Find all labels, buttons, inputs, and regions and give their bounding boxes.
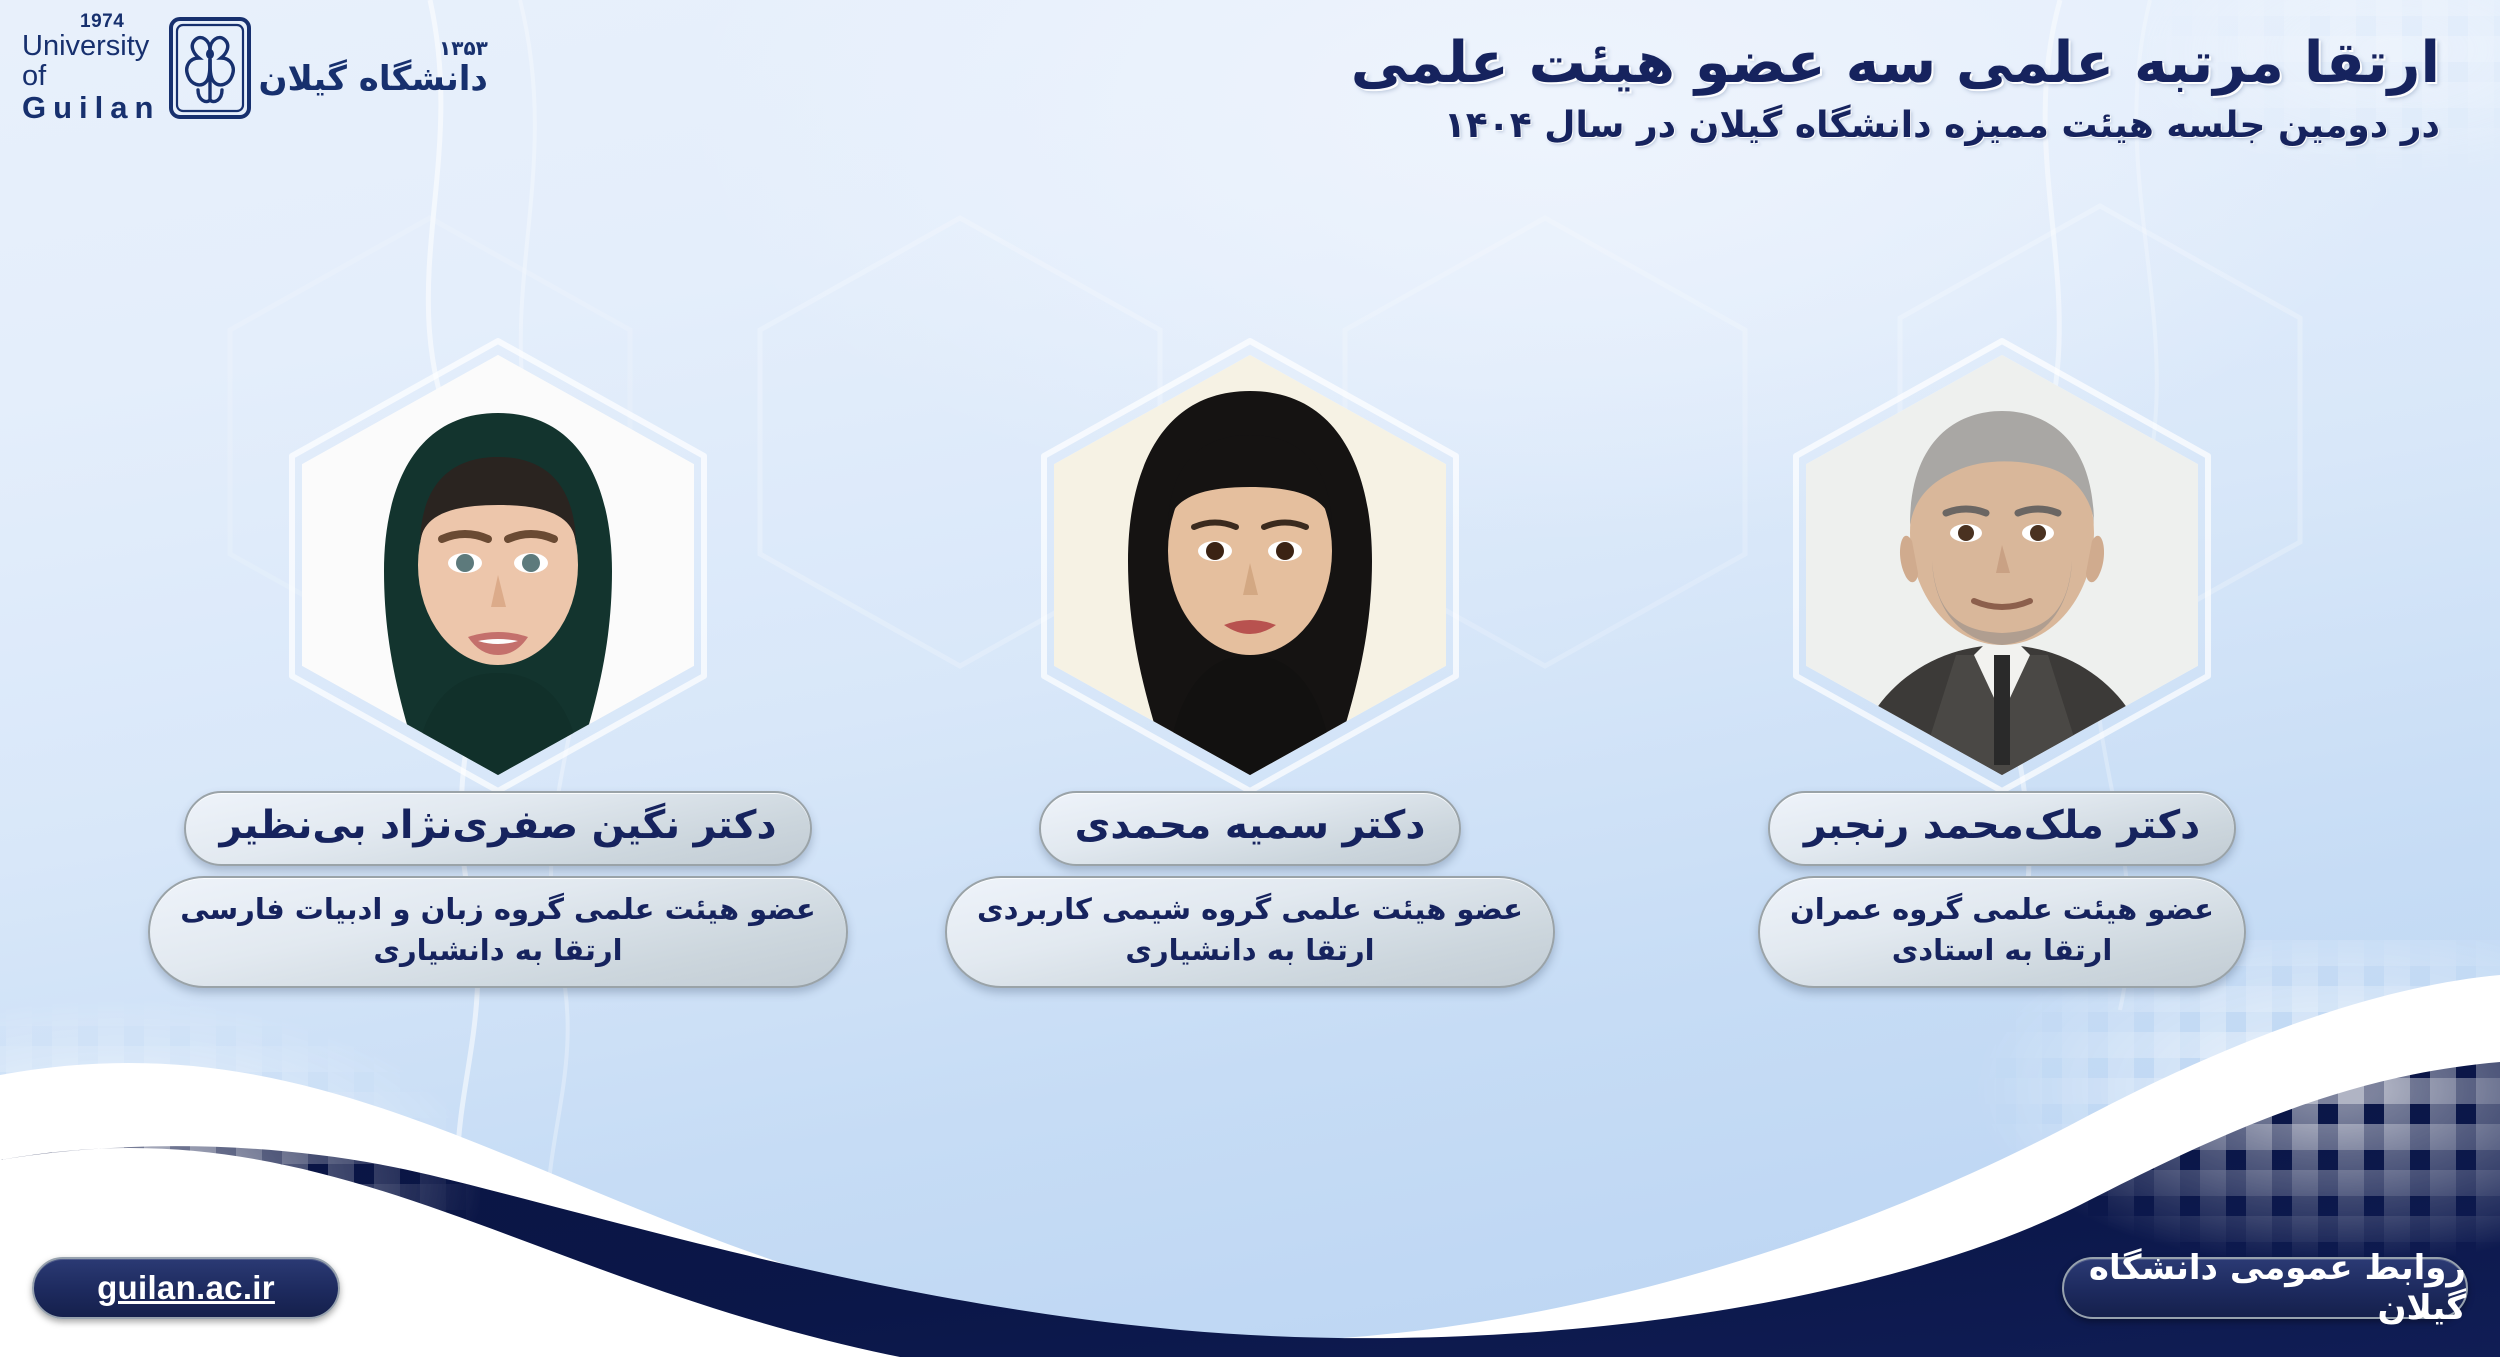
logo-guilan-word: Guilan [22,91,160,125]
honoree-role: عضو هیئت علمی گروه زبان و ادبیات فارسی ا… [148,876,847,988]
honoree-promotion: ارتقا به دانشیاری [977,930,1523,971]
public-relations-badge: روابط عمومی دانشگاه گیلان [2062,1257,2468,1319]
page-title: ارتقا مرتبه علمی سه عضو هیئت علمی [1351,30,2440,97]
honoree-promotion: ارتقا به دانشیاری [180,930,815,971]
honoree-card: دکتر نگین صفری‌نژاد بی‌نظیر عضو هیئت علم… [178,355,818,988]
logo-year-persian: ۱۳۵۳ [258,37,487,59]
honoree-card: دکتر سمیه محمدی عضو هیئت علمی گروه شیمی … [930,355,1570,988]
honoree-name: دکتر سمیه محمدی [1039,791,1462,866]
honoree-department: عضو هیئت علمی گروه زبان و ادبیات فارسی [180,889,815,930]
header-titles: ارتقا مرتبه علمی سه عضو هیئت علمی در دوم… [1351,30,2440,150]
honoree-list: دکتر ملک‌محمد رنجبر عضو هیئت علمی گروه ع… [0,355,2500,988]
poster-canvas: 1974 University of Guilan ۱۳۵۳ دانشگاه گ… [0,0,2500,1357]
logo-university-word: University of [22,31,160,92]
logo-name-persian: دانشگاه گیلان [258,59,487,99]
honoree-photo-frame [1054,355,1446,775]
honoree-photo-frame [1806,355,2198,775]
honoree-name: دکتر نگین صفری‌نژاد بی‌نظیر [184,791,813,866]
website-link[interactable]: guilan.ac.ir [32,1257,340,1319]
page-subtitle: در دومین جلسه هیئت ممیزه دانشگاه گیلان د… [1351,103,2440,150]
logo-persian-text: ۱۳۵۳ دانشگاه گیلان [258,37,487,98]
decorative-square-grid-right [1970,940,2500,1270]
honoree-role: عضو هیئت علمی گروه عمران ارتقا به استادی [1758,876,2246,988]
honoree-department: عضو هیئت علمی گروه شیمی کاربردی [977,889,1523,930]
university-logo: 1974 University of Guilan ۱۳۵۳ دانشگاه گ… [22,8,482,128]
honoree-photo-frame [302,355,694,775]
honoree-card: دکتر ملک‌محمد رنجبر عضو هیئت علمی گروه ع… [1682,355,2322,988]
honoree-name: دکتر ملک‌محمد رنجبر [1768,791,2236,866]
honoree-promotion: ارتقا به استادی [1790,930,2214,971]
logo-english-text: 1974 University of Guilan [22,11,160,126]
guilan-university-emblem-icon [168,16,252,120]
honoree-department: عضو هیئت علمی گروه عمران [1790,889,2214,930]
honoree-role: عضو هیئت علمی گروه شیمی کاربردی ارتقا به… [945,876,1555,988]
